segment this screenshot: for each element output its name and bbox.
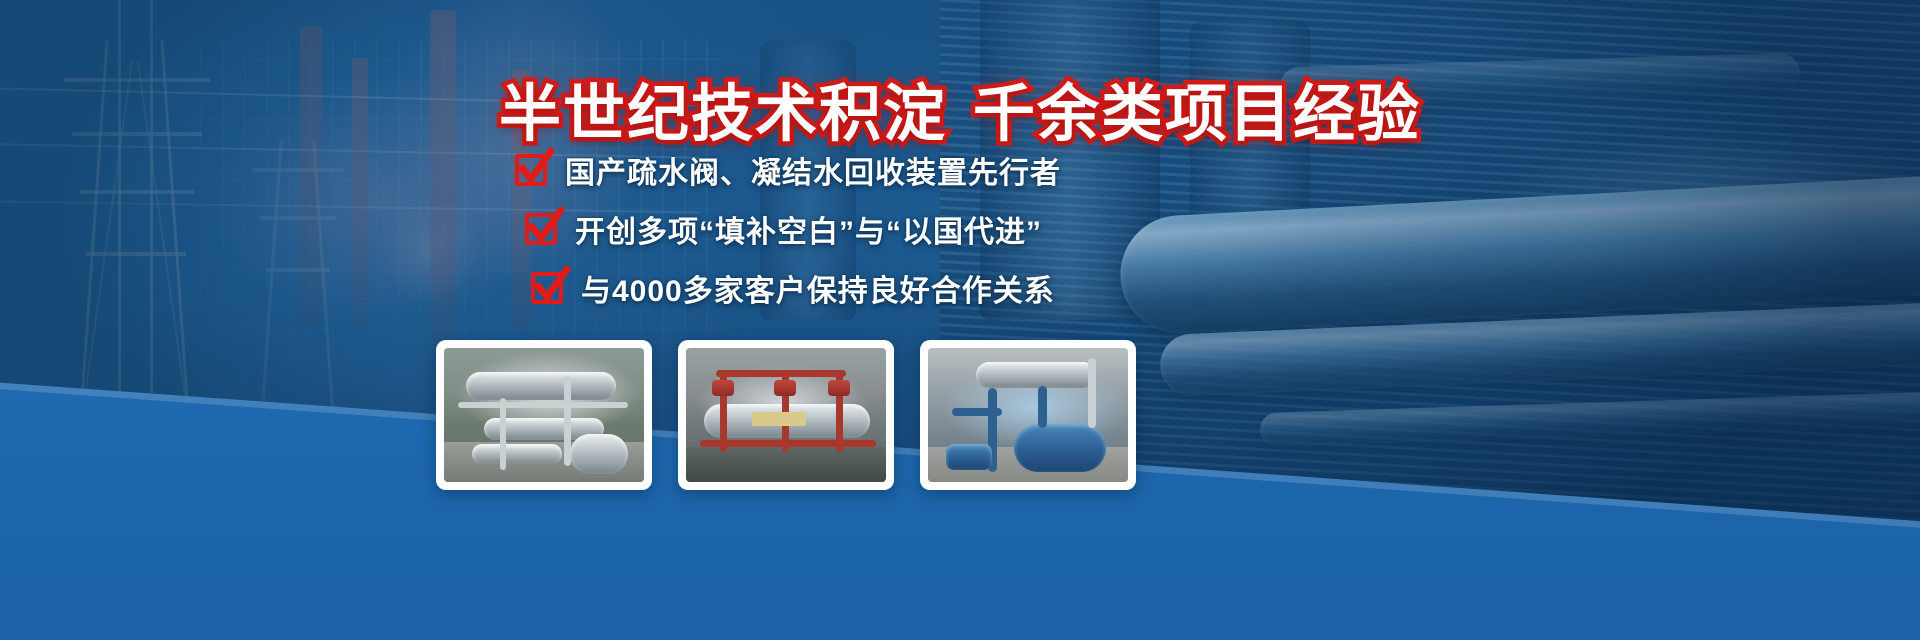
thumbnail-image (686, 348, 886, 482)
product-photo-steel-skid[interactable] (436, 340, 652, 490)
promo-banner: 半世纪技术积淀千余类项目经验 国产疏水阀、凝结水回收装置先行者 开创多项“填补空… (0, 0, 1920, 640)
list-item-label: 开创多项“填补空白”与“以国代进” (575, 207, 1042, 251)
list-item: 国产疏水阀、凝结水回收装置先行者 (515, 148, 1215, 192)
list-item-label: 国产疏水阀、凝结水回收装置先行者 (565, 148, 1061, 192)
product-photo-gallery (436, 340, 1136, 490)
list-item: 与4000多家客户保持良好合作关系 (531, 266, 1215, 310)
thumbnail-image (928, 348, 1128, 482)
headline-part-1: 半世纪技术积淀 (499, 80, 947, 149)
feature-list: 国产疏水阀、凝结水回收装置先行者 开创多项“填补空白”与“以国代进” 与4000… (515, 148, 1215, 325)
list-item: 开创多项“填补空白”与“以国代进” (525, 207, 1215, 251)
checkbox-checked-icon (515, 154, 547, 186)
product-photo-red-piping-unit[interactable] (678, 340, 894, 490)
page-title: 半世纪技术积淀千余类项目经验 (0, 80, 1920, 149)
product-photo-blue-tank-unit[interactable] (920, 340, 1136, 490)
checkbox-checked-icon (531, 272, 563, 304)
checkbox-checked-icon (525, 213, 557, 245)
thumbnail-image (444, 348, 644, 482)
headline-part-2: 千余类项目经验 (973, 80, 1421, 149)
list-item-label: 与4000多家客户保持良好合作关系 (581, 266, 1055, 310)
